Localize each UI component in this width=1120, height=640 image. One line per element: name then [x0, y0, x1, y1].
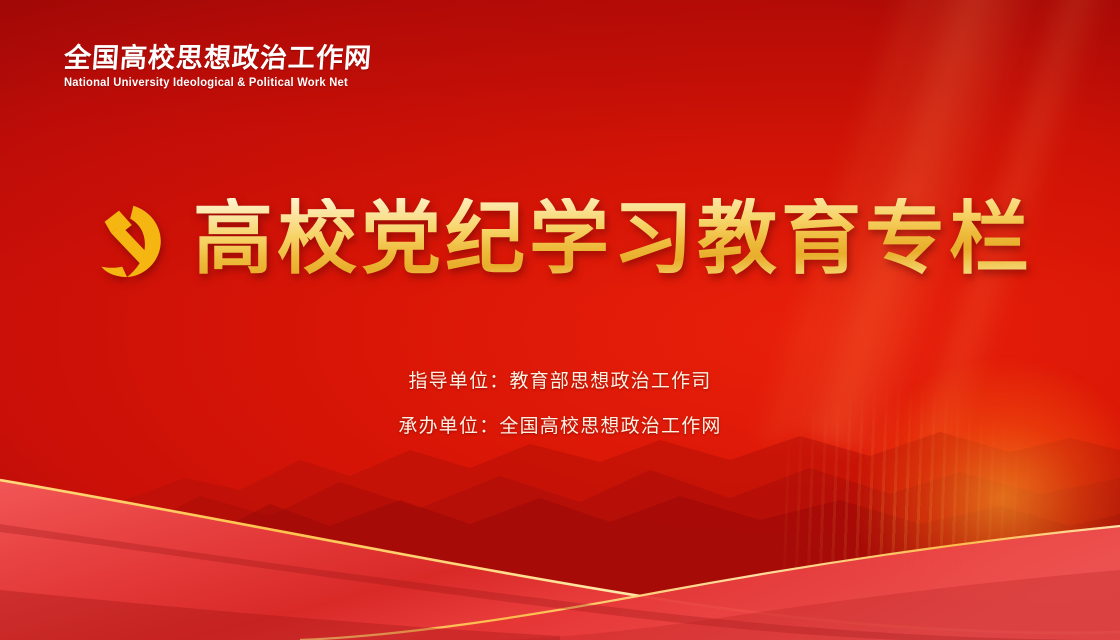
hero-headline: 高校党纪学习教育专栏	[0, 198, 1120, 284]
cpc-hammer-sickle-icon	[87, 199, 167, 283]
credit-line-organizer: 承办单位：全国高校思想政治工作网	[0, 417, 1120, 436]
banner-root: 全国高校思想政治工作网 National University Ideologi…	[0, 0, 1120, 640]
credits-block: 指导单位：教育部思想政治工作司 承办单位：全国高校思想政治工作网	[0, 372, 1120, 436]
site-logo-chinese: 全国高校思想政治工作网	[63, 44, 355, 74]
site-logo[interactable]: 全国高校思想政治工作网 National University Ideologi…	[64, 44, 354, 89]
hero-title: 高校党纪学习教育专栏	[193, 198, 1033, 284]
ribbon-decoration	[0, 450, 1120, 640]
credit-line-guidance: 指导单位：教育部思想政治工作司	[0, 372, 1120, 391]
site-logo-english: National University Ideological & Politi…	[64, 77, 345, 89]
